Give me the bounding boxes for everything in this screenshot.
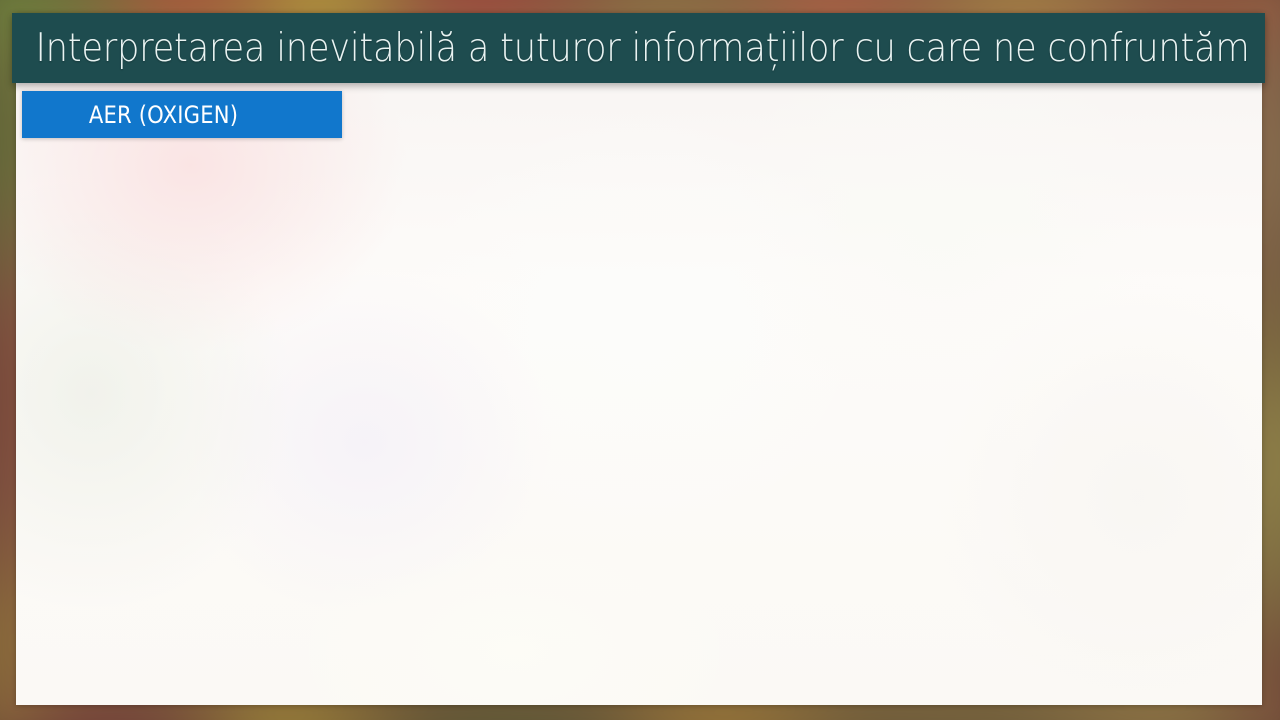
slide-title-bar: Interpretarea inevitabilă a tuturor info…: [12, 13, 1265, 83]
topic-label-box[interactable]: AER (OXIGEN): [22, 91, 342, 138]
topic-label-text: AER (OXIGEN): [22, 103, 238, 127]
slide-body-content: [38, 159, 1270, 711]
slide-title: Interpretarea inevitabilă a tuturor info…: [12, 29, 1250, 68]
slide-root: Interpretarea inevitabilă a tuturor info…: [0, 0, 1280, 720]
